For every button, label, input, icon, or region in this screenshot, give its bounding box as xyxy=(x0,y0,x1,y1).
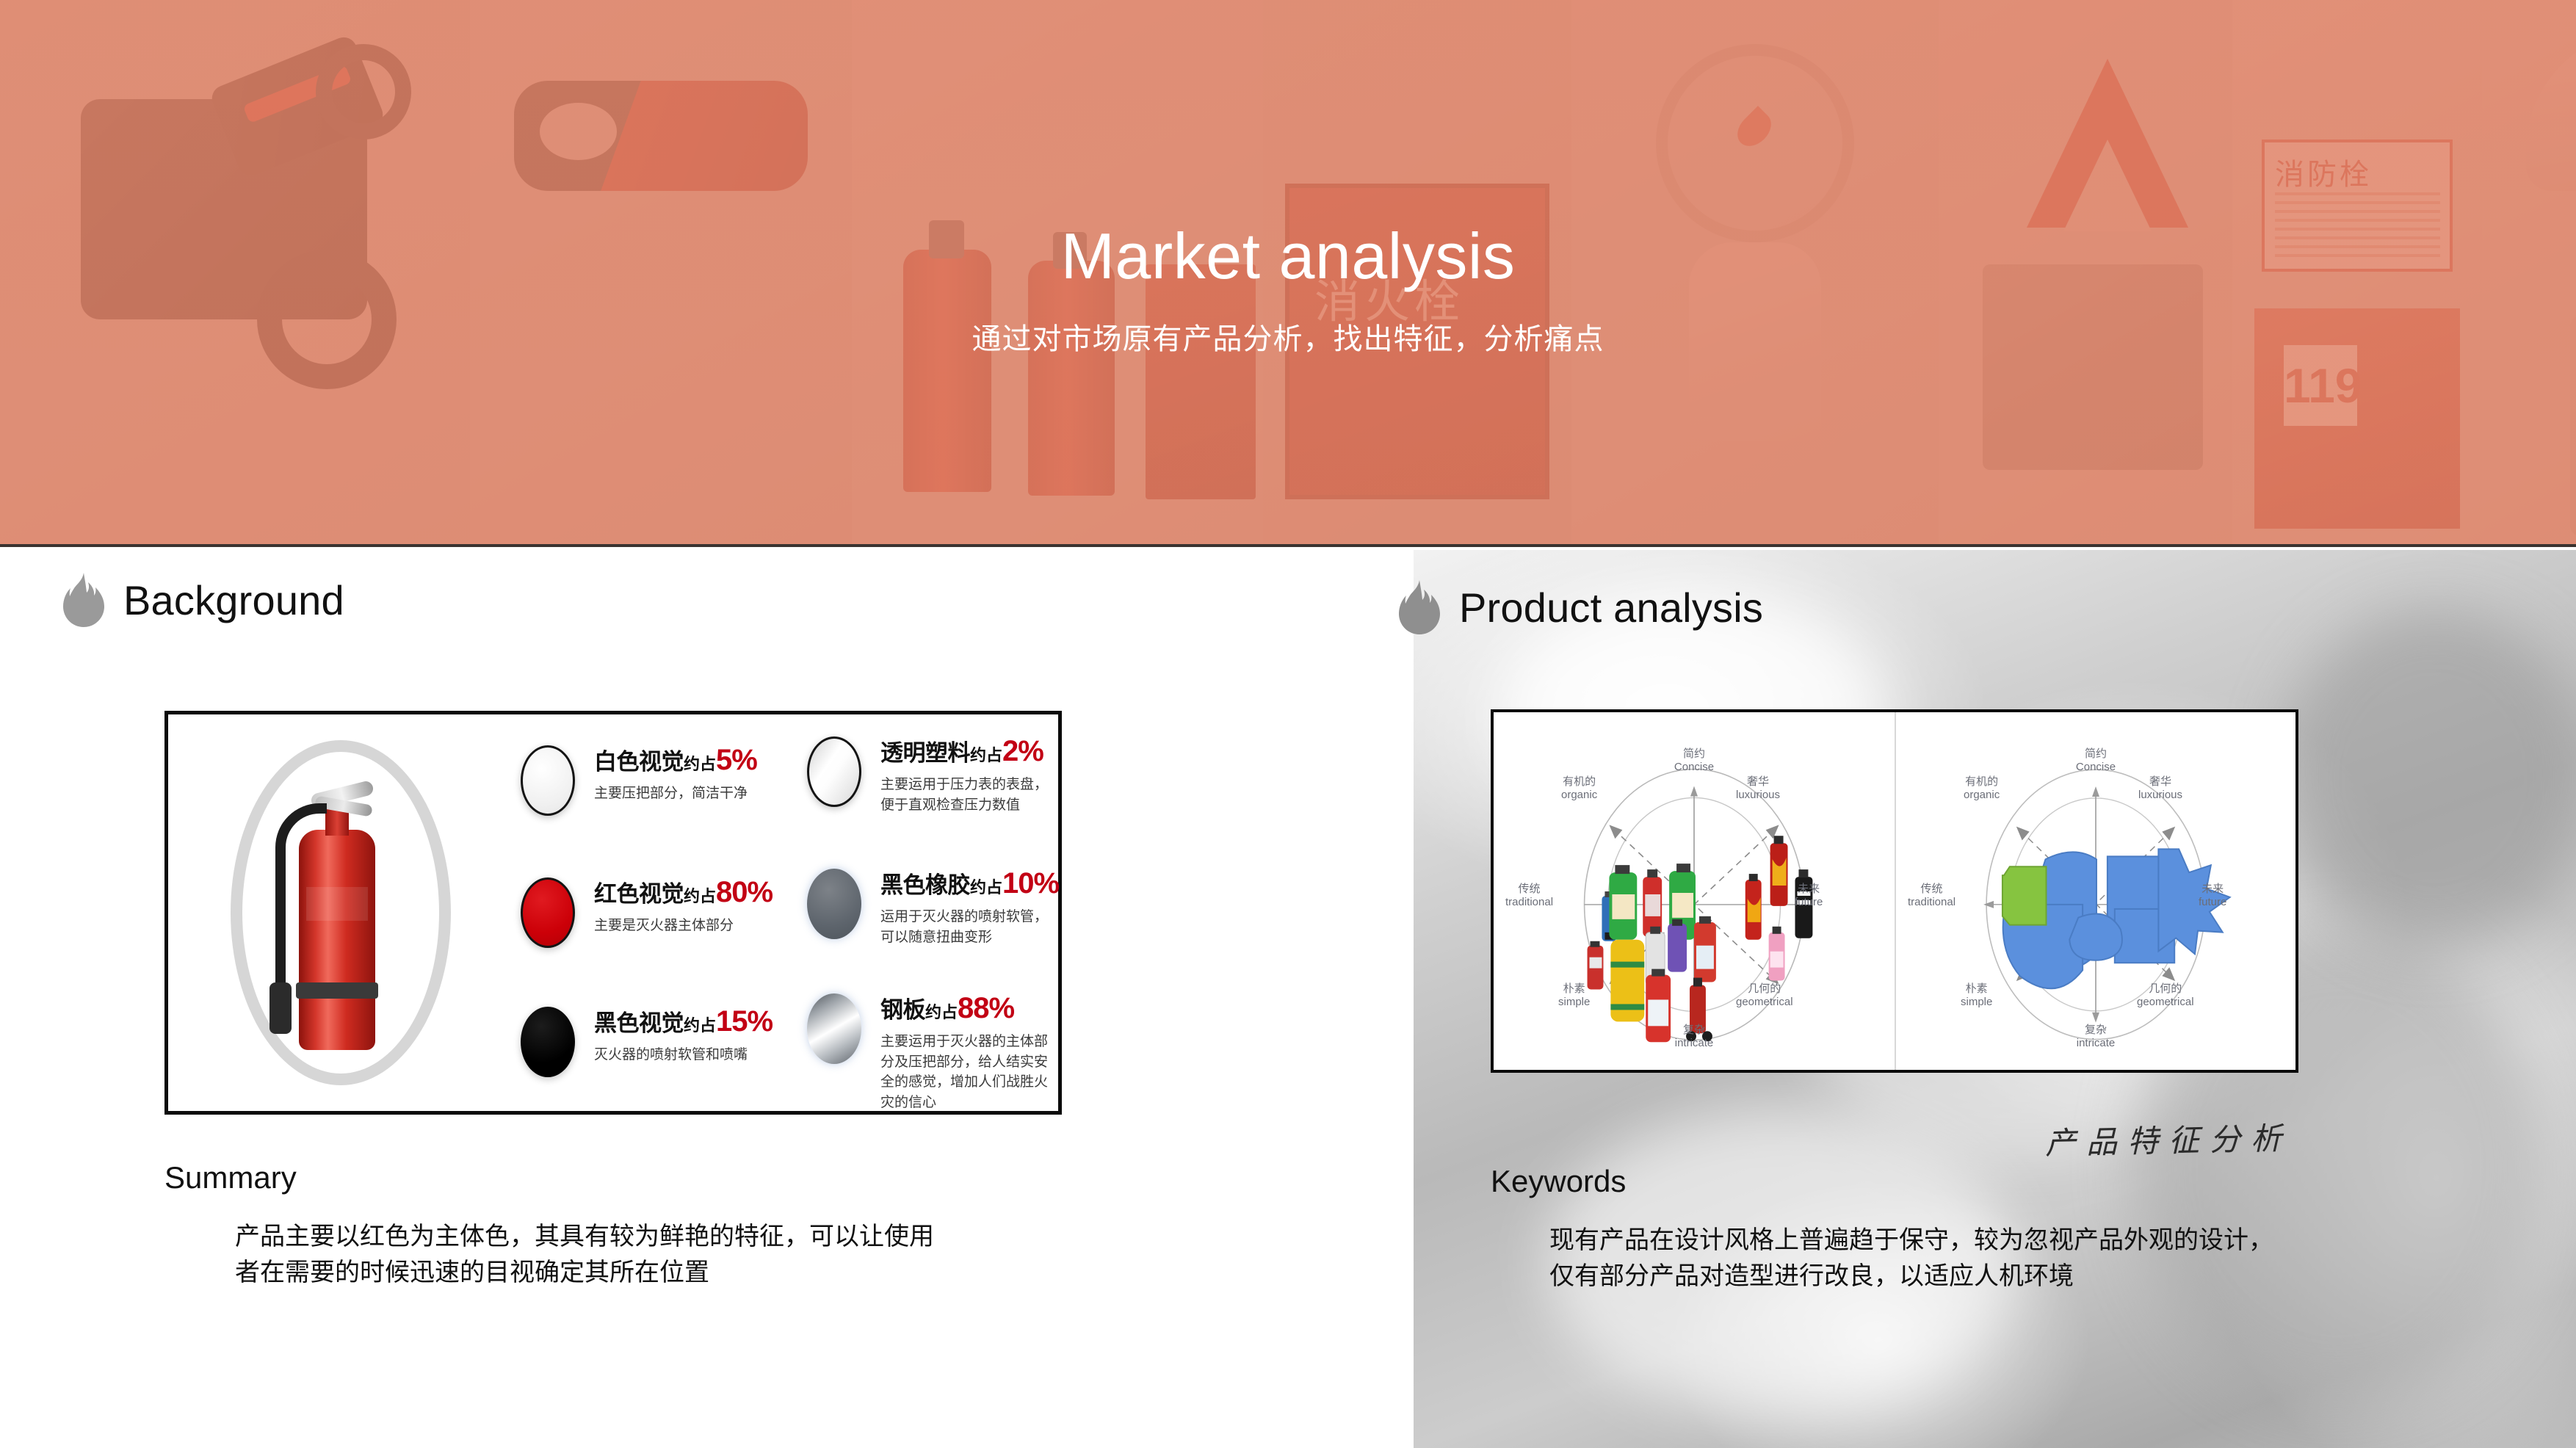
legend-name: 红色视觉 xyxy=(594,881,684,907)
legend-name: 钢板 xyxy=(880,997,925,1023)
legend-percent: 10% xyxy=(1002,867,1059,899)
legend-name: 黑色视觉 xyxy=(594,1010,684,1036)
legend-description: 运用于灭火器的喷射软管，可以随意扭曲变形 xyxy=(880,907,1059,947)
section-title-product-analysis: Product analysis xyxy=(1459,584,1763,631)
axis-label-bottom-left: 朴素 simple xyxy=(1558,982,1590,1008)
handwritten-caption: 产品特征分析 xyxy=(2044,1113,2292,1163)
legend-about: 约占 xyxy=(925,1003,958,1021)
axis-label-right: 未来 future xyxy=(1795,883,1823,908)
slide-root: 消火栓 消防栓 119 xyxy=(0,0,2576,1448)
axis-label-top-left: 有机的 organic xyxy=(1561,775,1597,801)
header-banner: 消火栓 消防栓 119 xyxy=(0,0,2576,547)
axis-label-bottom: 复杂 intricate xyxy=(1896,1024,2295,1049)
gray-swatch xyxy=(807,869,861,939)
legend-percent: 80% xyxy=(716,876,773,908)
legend-description: 主要运用于灭火器的主体部分及压把部分，给人结实安全的感觉，增加人们战胜火灾的信心 xyxy=(880,1032,1058,1112)
flame-icon xyxy=(1399,580,1440,634)
axis-label-bottom-left: 朴素 simple xyxy=(1961,982,1992,1008)
axis-label-bottom-right: 几何的 geometrical xyxy=(1736,982,1793,1008)
legend-description: 主要运用于压力表的表盘，便于直观检查压力数值 xyxy=(880,775,1058,815)
axis-label-top-left: 有机的 organic xyxy=(1964,775,2000,801)
legend-item: 白色视觉约占5% 主要压把部分，简洁干净 xyxy=(521,745,757,816)
keywords-label: Keywords xyxy=(1491,1164,1626,1199)
summary-label: Summary xyxy=(164,1160,297,1195)
legend-about: 约占 xyxy=(684,1016,716,1035)
axis-label-top: 简约 Concise xyxy=(1494,747,1895,773)
axis-label-right: 未来 future xyxy=(2199,883,2226,908)
legend-item: 黑色橡胶约占10% 运用于灭火器的喷射软管，可以随意扭曲变形 xyxy=(807,869,1059,947)
legend-item: 红色视觉约占80% 主要是灭火器主体部分 xyxy=(521,877,773,948)
legend-about: 约占 xyxy=(684,755,716,773)
legend-item: 透明塑料约占2% 主要运用于压力表的表盘，便于直观检查压力数值 xyxy=(807,736,1058,815)
axis-label-left: 传统 traditional xyxy=(1505,883,1553,908)
background-section-header: Background xyxy=(63,573,344,627)
axis-label-top-right: 奢华 luxurious xyxy=(2138,775,2182,801)
legend-item: 黑色视觉约占15% 灭火器的喷射软管和喷嘴 xyxy=(521,1007,773,1077)
axis-label-top: 简约 Concise xyxy=(1896,747,2295,773)
white-swatch xyxy=(521,745,575,816)
legend-name: 白色视觉 xyxy=(594,749,684,775)
legend-item: 钢板约占88% 主要运用于灭火器的主体部分及压把部分，给人结实安全的感觉，增加人… xyxy=(807,993,1058,1112)
page-subtitle: 通过对市场原有产品分析，找出特征，分析痛点 xyxy=(0,315,2576,358)
black-swatch xyxy=(521,1007,575,1077)
steel-swatch xyxy=(807,993,861,1064)
legend-percent: 15% xyxy=(716,1005,773,1038)
legend-percent: 2% xyxy=(1002,735,1043,767)
color-analysis-chart: 白色视觉约占5% 主要压把部分，简洁干净 透明塑料约占2% 主要运用于压力表的表… xyxy=(164,711,1062,1115)
red-swatch xyxy=(521,877,575,948)
legend-about: 约占 xyxy=(684,887,716,905)
smoke-wisp-5 xyxy=(2280,609,2576,946)
legend-description: 主要是灭火器主体部分 xyxy=(594,916,773,936)
banner-text-group: Market analysis 通过对市场原有产品分析，找出特征，分析痛点 xyxy=(0,224,2576,358)
product-section-header: Product analysis xyxy=(1399,580,1763,634)
perceptual-map-products: 简约 Concise 有机的 organic 奢华 luxurious 传统 t… xyxy=(1494,712,1895,1070)
axis-label-left: 传统 traditional xyxy=(1908,883,1955,908)
product-analysis-diagram: 简约 Concise 有机的 organic 奢华 luxurious 传统 t… xyxy=(1491,709,2298,1073)
legend-description: 主要压把部分，简洁干净 xyxy=(594,783,757,804)
color-legend-grid: 白色视觉约占5% 主要压把部分，简洁干净 透明塑料约占2% 主要运用于压力表的表… xyxy=(513,714,1058,1111)
section-title-background: Background xyxy=(123,576,344,624)
legend-description: 灭火器的喷射软管和喷嘴 xyxy=(594,1045,773,1065)
axis-label-bottom-right: 几何的 geometrical xyxy=(2137,982,2194,1008)
flame-icon xyxy=(63,573,104,627)
perceptual-map-trends: 简约 Concise 有机的 organic 奢华 luxurious 传统 t… xyxy=(1895,712,2295,1070)
legend-percent: 5% xyxy=(716,744,757,776)
page-title: Market analysis xyxy=(0,224,2576,289)
legend-name: 透明塑料 xyxy=(880,740,970,766)
transparent-swatch xyxy=(807,736,861,807)
axis-label-top-right: 奢华 luxurious xyxy=(1736,775,1780,801)
extinguisher-illustration xyxy=(183,722,499,1104)
legend-about: 约占 xyxy=(970,878,1002,897)
legend-percent: 88% xyxy=(958,992,1014,1024)
legend-name: 黑色橡胶 xyxy=(880,872,970,898)
fire-extinguisher-image xyxy=(264,762,418,1078)
keywords-text: 现有产品在设计风格上普遍趋于保守，较为忽视产品外观的设计，仅有部分产品对造型进行… xyxy=(1549,1223,2291,1295)
legend-about: 约占 xyxy=(970,746,1002,764)
axis-label-bottom: 复杂 intricate xyxy=(1494,1024,1895,1049)
summary-text: 产品主要以红色为主体色，其具有较为鲜艳的特征，可以让使用者在需要的时候迅速的目视… xyxy=(235,1219,955,1292)
